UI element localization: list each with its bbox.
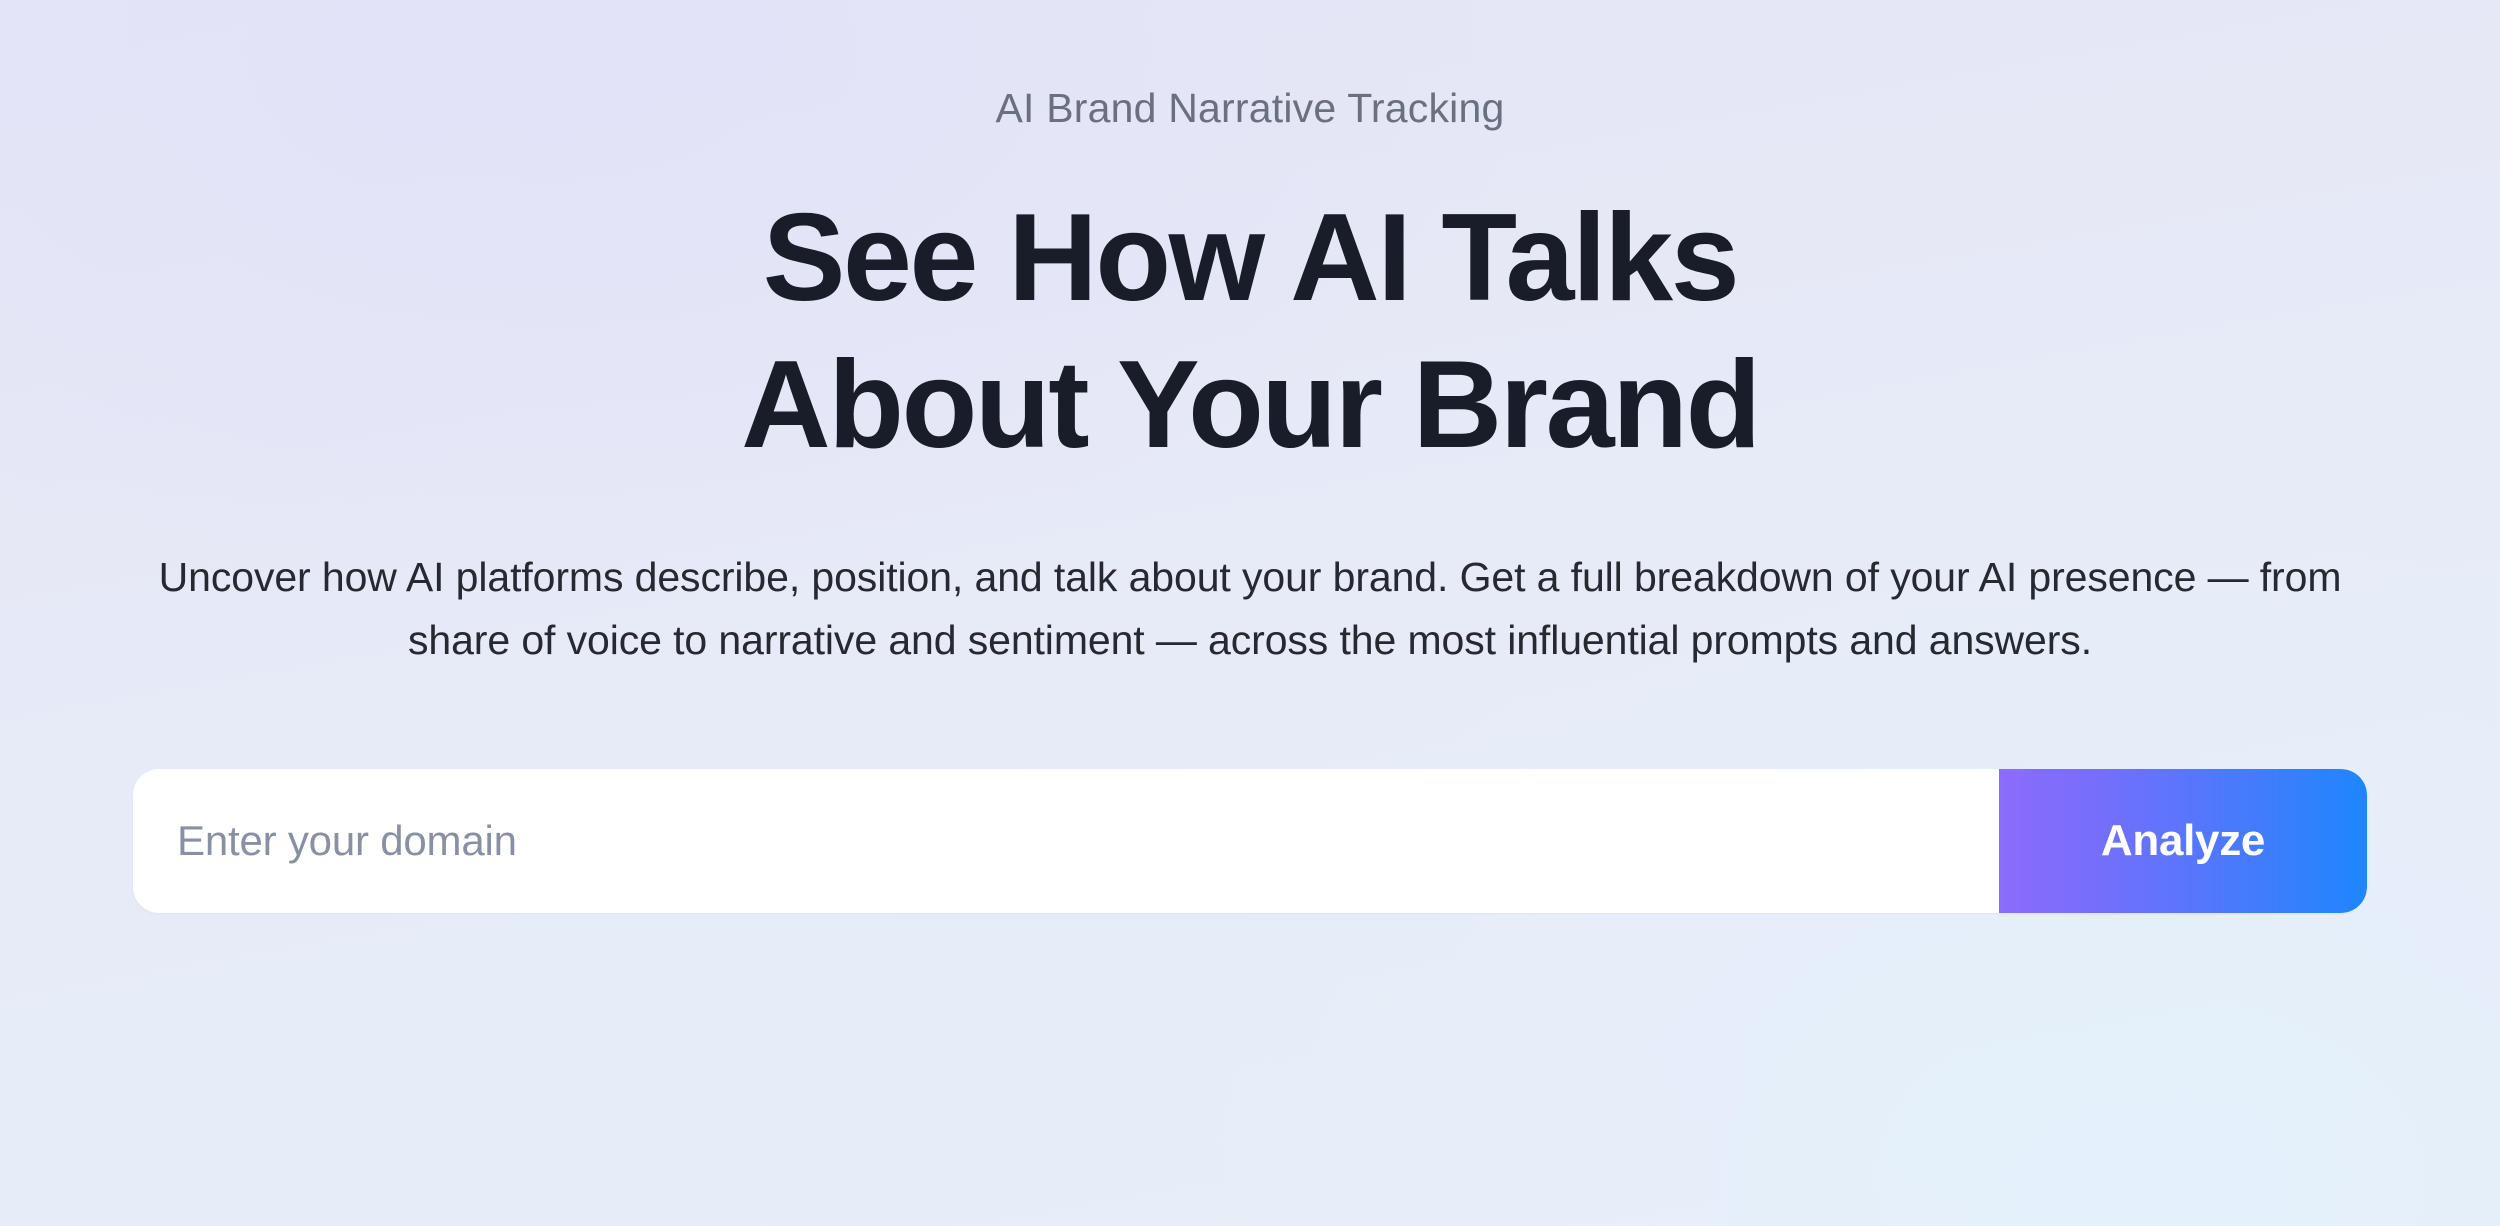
- headline-line-1: See How AI Talks: [741, 185, 1759, 331]
- analyze-button[interactable]: Analyze: [1999, 769, 2367, 913]
- hero-section: AI Brand Narrative Tracking See How AI T…: [0, 0, 2500, 1226]
- hero-subcopy: Uncover how AI platforms describe, posit…: [145, 546, 2355, 673]
- page-title: See How AI Talks About Your Brand: [741, 185, 1759, 478]
- hero-eyebrow: AI Brand Narrative Tracking: [996, 84, 1505, 133]
- headline-line-2: About Your Brand: [741, 332, 1759, 478]
- hero-content: AI Brand Narrative Tracking See How AI T…: [0, 0, 2500, 913]
- domain-input[interactable]: [133, 769, 1999, 913]
- domain-search-bar: Analyze: [133, 769, 2367, 913]
